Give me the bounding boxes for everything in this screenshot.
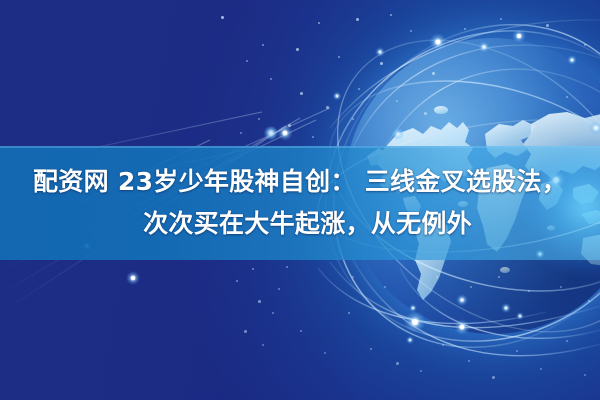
stock-news-banner: 配资网 23岁少年股神自创： 三线金叉选股法， 次次买在大牛起涨，从无例外 xyxy=(0,0,600,400)
title-band-edge xyxy=(0,146,600,148)
headline-line-1: 配资网 23岁少年股神自创： 三线金叉选股法， xyxy=(0,161,600,203)
headline-block: 配资网 23岁少年股神自创： 三线金叉选股法， 次次买在大牛起涨，从无例外 xyxy=(0,150,600,256)
headline-line-2: 次次买在大牛起涨，从无例外 xyxy=(0,203,600,245)
